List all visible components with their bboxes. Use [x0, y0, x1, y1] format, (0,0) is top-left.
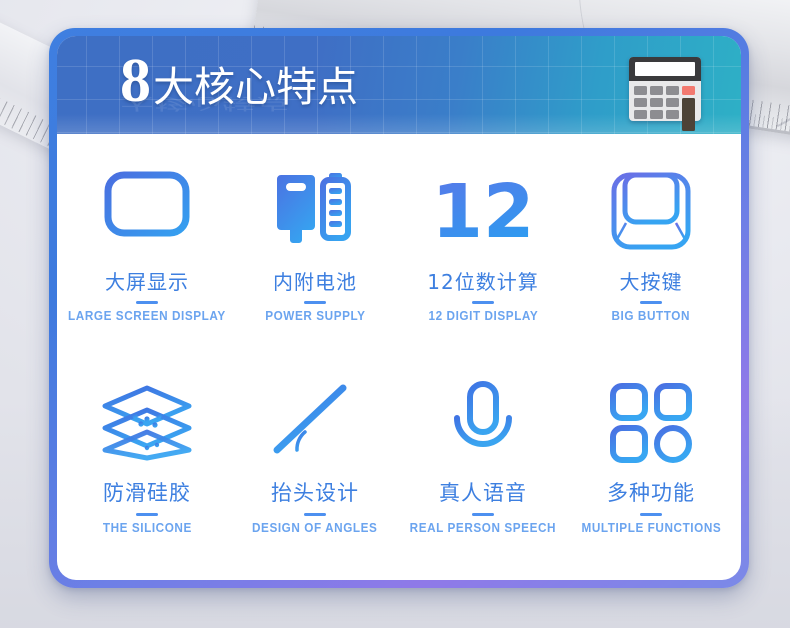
feature-label-cn: 12位数计算 [427, 266, 538, 295]
feature-card: 8 大核心特点 大核心特点 [49, 28, 749, 588]
feature-grid: 大屏显示 LARGE SCREEN DISPLAY [57, 134, 741, 580]
feature-divider [472, 513, 494, 516]
calc-key [634, 86, 647, 95]
calc-key [634, 110, 647, 119]
feature-divider [472, 301, 494, 304]
twelve-digit-icon: 12 [433, 160, 533, 264]
feature-label-en: LARGE SCREEN DISPLAY [68, 309, 226, 323]
calculator-keys [634, 86, 695, 131]
calc-key [666, 110, 679, 119]
feature-item-large-screen-display[interactable]: 大屏显示 LARGE SCREEN DISPLAY [63, 148, 231, 359]
keycap-icon [605, 160, 697, 264]
title-text: 大核心特点 [153, 67, 358, 108]
feature-item-design-of-angles[interactable]: 抬头设计 DESIGN OF ANGLES [231, 359, 399, 570]
silicone-layers-icon [97, 371, 197, 475]
calculator-icon [629, 57, 701, 121]
feature-label-en: REAL PERSON SPEECH [410, 521, 556, 535]
calc-key [650, 110, 663, 119]
feature-divider [640, 301, 662, 304]
feature-item-big-button[interactable]: 大按键 BIG BUTTON [567, 148, 735, 359]
feature-label-cn: 多种功能 [607, 477, 695, 507]
feature-divider [136, 301, 158, 304]
calculator-screen [635, 62, 695, 76]
feature-label-cn: 抬头设计 [271, 477, 359, 507]
title-number: 8 [120, 50, 150, 112]
feature-divider [640, 513, 662, 516]
feature-item-real-person-speech[interactable]: 真人语音 REAL PERSON SPEECH [399, 359, 567, 570]
calc-key [666, 98, 679, 107]
screen-display-icon [101, 160, 193, 264]
multi-function-icon [605, 371, 697, 475]
feature-label-cn: 大按键 [620, 266, 683, 295]
feature-divider [136, 513, 158, 516]
feature-label-cn: 大屏显示 [105, 266, 189, 295]
twelve-digit-glyph: 12 [433, 169, 533, 255]
card-header: 8 大核心特点 大核心特点 [57, 36, 741, 134]
feature-item-the-silicone[interactable]: 防滑硅胶 THE SILICONE [63, 359, 231, 570]
angle-icon [265, 371, 365, 475]
calc-key-clear [682, 86, 695, 95]
feature-divider [304, 513, 326, 516]
feature-label-en: MULTIPLE FUNCTIONS [581, 521, 721, 535]
feature-item-power-supply[interactable]: 内附电池 POWER SUPPLY [231, 148, 399, 359]
feature-label-cn: 内附电池 [273, 266, 357, 295]
feature-card-inner: 8 大核心特点 大核心特点 [57, 36, 741, 580]
battery-icon [269, 160, 361, 264]
feature-divider [304, 301, 326, 304]
calc-key [650, 98, 663, 107]
calc-key [666, 86, 679, 95]
feature-item-multiple-functions[interactable]: 多种功能 MULTIPLE FUNCTIONS [567, 359, 735, 570]
feature-label-en: DESIGN OF ANGLES [252, 521, 377, 535]
calc-key [634, 98, 647, 107]
microphone-icon [433, 371, 533, 475]
feature-label-en: BIG BUTTON [612, 309, 691, 323]
feature-label-cn: 防滑硅胶 [103, 477, 191, 507]
feature-label-cn: 真人语音 [439, 477, 527, 507]
feature-label-en: POWER SUPPLY [265, 309, 365, 323]
calc-key [650, 86, 663, 95]
feature-item-12-digit-display[interactable]: 12 12位数计算 12 DIGIT DISPLAY [399, 148, 567, 359]
calc-key-equals [682, 98, 695, 131]
page-title: 8 大核心特点 [120, 50, 358, 112]
feature-label-en: THE SILICONE [102, 521, 191, 535]
feature-label-en: 12 DIGIT DISPLAY [428, 309, 538, 323]
